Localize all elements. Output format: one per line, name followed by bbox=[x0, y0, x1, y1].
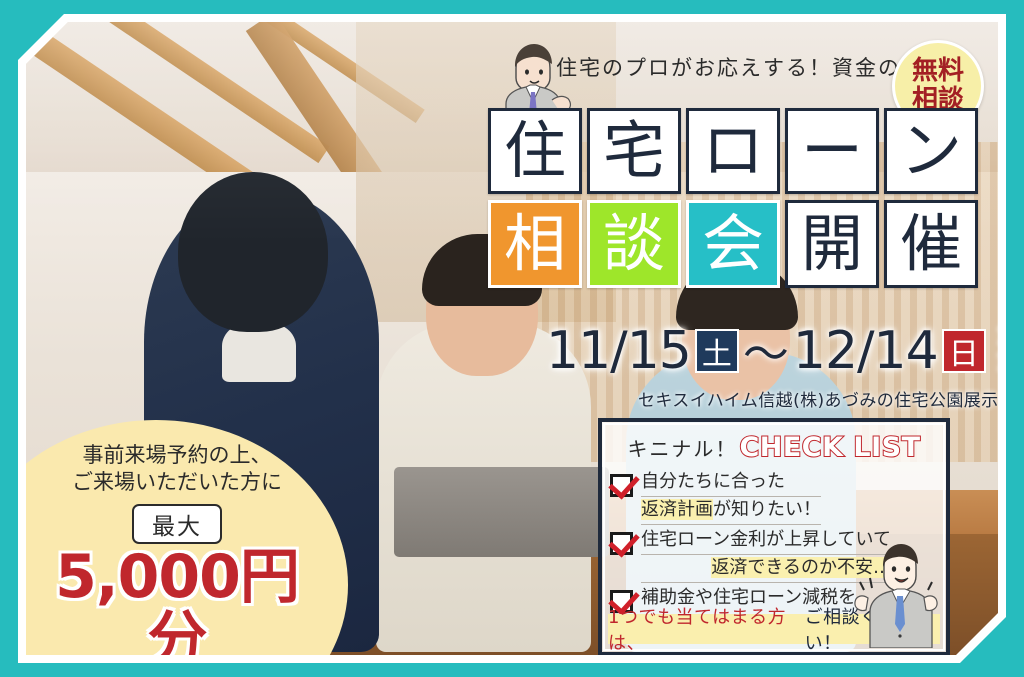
checklist-heading: キニナル！ CHECK LIST bbox=[602, 432, 946, 463]
checklist-heading-jp: キニナル！ bbox=[627, 433, 737, 462]
venue-name: セキスイハイム信越(株)あづみの住宅公園展示場 bbox=[638, 386, 998, 411]
checklist-panel: キニナル！ CHECK LIST 自分たちに合った 返済計画が知りたい！ 住宅ロ… bbox=[598, 418, 950, 655]
promo-amount: 5,000円分 bbox=[34, 546, 320, 655]
outer-teal-frame: 住宅のプロがお応えする！資金のコト 無料 相談 住 宅 ロ ー ン 相 談 会 … bbox=[0, 0, 1024, 677]
cta-text-red: 1つでも当てはまる方は、 bbox=[608, 603, 805, 655]
checklist-item: 自分たちに合った 返済計画が知りたい！ bbox=[610, 469, 936, 525]
checklist-item-text: 自分たちに合った 返済計画が知りたい！ bbox=[641, 469, 821, 525]
start-date: 11/15 bbox=[546, 325, 691, 377]
title-tile: ン bbox=[884, 108, 978, 194]
title-tile: 催 bbox=[884, 200, 978, 288]
title-tile: ー bbox=[785, 108, 879, 194]
main-title: 住 宅 ロ ー ン 相 談 会 開 催 bbox=[488, 108, 978, 294]
title-row-1: 住 宅 ロ ー ン bbox=[488, 108, 978, 194]
promo-content: 事前来場予約の上、 ご来場いただいた方に 最大 5,000円分 ギフトプレゼント… bbox=[34, 442, 320, 655]
checklist-heading-en: CHECK LIST bbox=[739, 432, 920, 463]
event-time: 10:00〜 18:00 bbox=[996, 325, 998, 377]
event-date: 11/15 土 〜 12/14 日 10:00〜 18:00 bbox=[546, 318, 998, 384]
title-tile: 開 bbox=[785, 200, 879, 288]
title-tile: 談 bbox=[587, 200, 681, 288]
checkbox-checked-icon bbox=[610, 532, 633, 555]
hero-photo: 住宅のプロがお応えする！資金のコト 無料 相談 住 宅 ロ ー ン 相 談 会 … bbox=[26, 22, 998, 655]
title-tile: 宅 bbox=[587, 108, 681, 194]
checklist-item-line-2-rest: が知りたい！ bbox=[713, 499, 821, 520]
time-line-2: 18:00 bbox=[996, 351, 998, 376]
title-tile: ロ bbox=[686, 108, 780, 194]
date-separator: 〜 bbox=[743, 318, 789, 384]
title-tile: 会 bbox=[686, 200, 780, 288]
end-weekday-badge: 日 bbox=[942, 329, 986, 373]
promo-line-1: 事前来場予約の上、 bbox=[34, 442, 320, 469]
promo-line-2: ご来場いただいた方に bbox=[34, 469, 320, 496]
checklist-item-line-2: 返済計画が知りたい！ bbox=[641, 497, 821, 525]
title-tile: 住 bbox=[488, 108, 582, 194]
end-date: 12/14 bbox=[793, 325, 938, 377]
time-line-1: 10:00〜 bbox=[996, 325, 998, 350]
highlighted-phrase: 返済計画 bbox=[641, 499, 713, 520]
cheering-man-illustration bbox=[848, 536, 944, 648]
start-weekday-badge: 土 bbox=[695, 329, 739, 373]
title-tile: 相 bbox=[488, 200, 582, 288]
promo-max-label: 最大 bbox=[132, 504, 222, 544]
checklist-item-line-1: 自分たちに合った bbox=[641, 469, 821, 497]
badge-line-1: 無料 bbox=[912, 57, 964, 86]
tagline: 住宅のプロがお応えする！資金のコト bbox=[556, 52, 947, 82]
title-row-2: 相 談 会 開 催 bbox=[488, 200, 978, 288]
checkbox-checked-icon bbox=[610, 474, 633, 497]
